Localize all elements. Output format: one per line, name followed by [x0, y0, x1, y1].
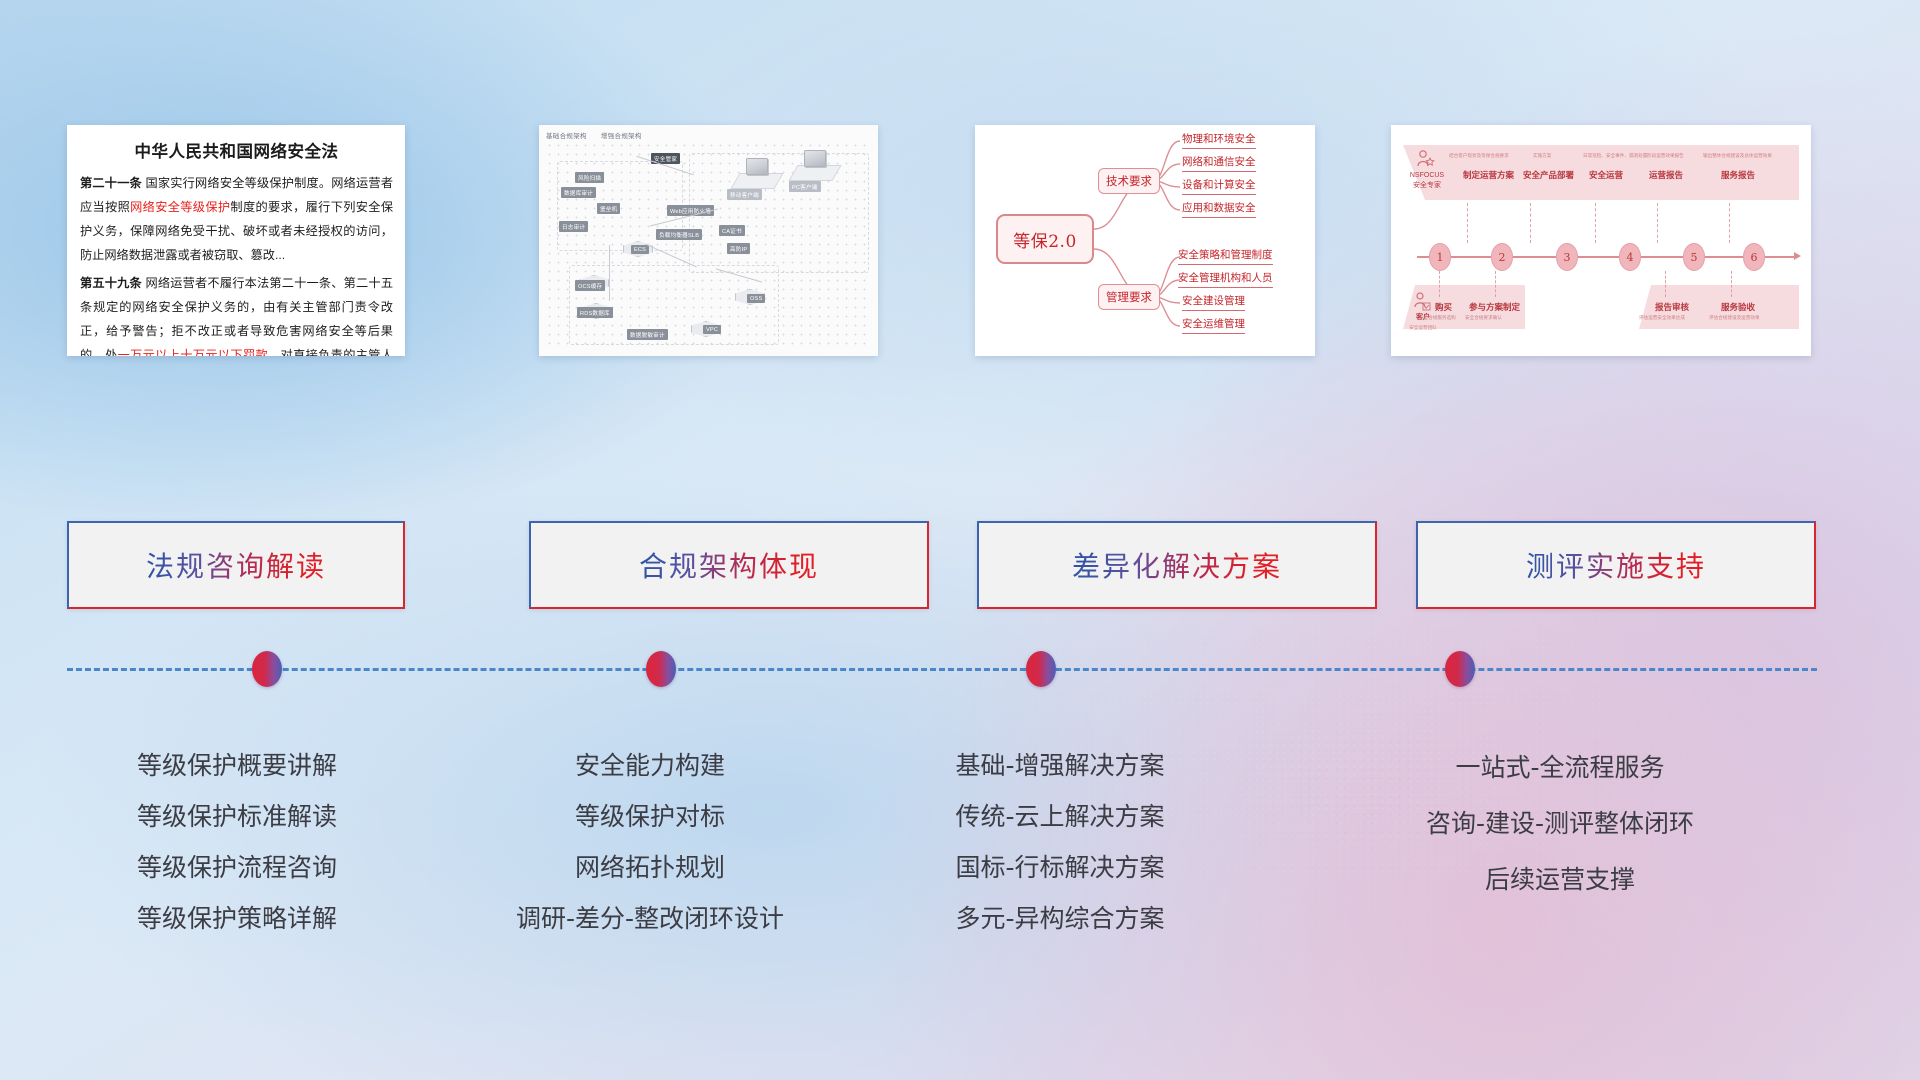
pill-label-1: 法规咨询解读 — [146, 545, 326, 585]
card-cybersecurity-law[interactable]: 中华人民共和国网络安全法 第二十一条 国家实行网络安全等级保护制度。网络运营者应… — [67, 125, 405, 356]
mindmap-branch-management: 管理要求 — [1098, 284, 1160, 310]
architecture-node-risk-scan: 风险扫描 — [575, 172, 604, 183]
feature-item: 一站式-全流程服务 — [1330, 740, 1790, 796]
architecture-node-db-audit: 数据库审计 — [561, 187, 596, 198]
mindmap-leaf-device-compute: 设备和计算安全 — [1182, 179, 1256, 195]
roadmap-axis — [1417, 256, 1797, 258]
mindmap-leaf-construction-mgmt: 安全建设管理 — [1182, 295, 1245, 311]
pill-label-2: 合规架构体现 — [639, 545, 819, 585]
roadmap-tick-b3 — [1665, 271, 1666, 297]
roadmap-tick-b2 — [1495, 271, 1496, 297]
feature-item: 安全能力构建 — [470, 740, 830, 791]
roadmap-bottom-small-1: 安全合规服务选购 — [1419, 315, 1456, 321]
feature-item: 等级保护概要讲解 — [67, 740, 407, 791]
feature-item: 网络拓扑规划 — [470, 842, 830, 893]
card-mindmap-dengbao[interactable]: 等保2.0 技术要求 管理要求 物理和环境安全 网络和通信安全 设备和计算安全 … — [975, 125, 1315, 356]
law-article-59-highlight-a: 一万元以上十万元以下罚款 — [118, 348, 268, 356]
mindmap-leaf-org-personnel: 安全管理机构和人员 — [1178, 272, 1273, 288]
timeline-dashed-line — [67, 668, 1817, 671]
pill-button-compliance-architecture[interactable]: 合规架构体现 — [529, 521, 929, 609]
roadmap-tick-2 — [1530, 203, 1531, 243]
feature-columns: 等级保护概要讲解 等级保护标准解读 等级保护流程咨询 等级保护策略详解 安全能力… — [0, 740, 1920, 940]
roadmap-expert-line2: 安全专家 — [1401, 181, 1453, 190]
roadmap-tick-3 — [1595, 203, 1596, 243]
architecture-link-4 — [609, 245, 610, 301]
architecture-header: 基础合规架构 增强合规架构 — [546, 130, 654, 140]
feature-item: 多元-异构综合方案 — [870, 893, 1250, 944]
roadmap-tick-5 — [1729, 203, 1730, 243]
roadmap-bottom-big-1: 购买 — [1435, 301, 1452, 313]
feature-item: 等级保护策略详解 — [67, 893, 407, 944]
mindmap-leaf-policy-system: 安全策略和管理制度 — [1178, 249, 1273, 265]
roadmap-step-dot-5: 5 — [1683, 243, 1705, 271]
roadmap-top-big-4: 运营报告 — [1649, 169, 1683, 181]
architecture-header-left: 基础合规架构 — [546, 133, 587, 140]
architecture-node-ecs: ECS — [631, 245, 649, 254]
feature-column-2: 安全能力构建 等级保护对标 网络拓扑规划 调研-差分-整改闭环设计 — [470, 740, 830, 944]
roadmap-tick-1 — [1467, 203, 1468, 243]
architecture-node-data-mask-audit: 数据脱敏审计 — [627, 329, 668, 340]
roadmap-expert-line1: NSFOCUS — [1401, 171, 1453, 180]
pill-button-evaluation-support[interactable]: 测评实施支持 — [1416, 521, 1816, 609]
card-compliance-architecture[interactable]: 基础合规架构 增强合规架构 移动客户端 PC客户端 安全管家 风险扫描 数据库审… — [539, 125, 878, 356]
architecture-node-mobile-client: 移动客户端 — [727, 189, 762, 200]
roadmap-tick-4 — [1657, 203, 1658, 243]
architecture-node-oss: OSS — [747, 294, 765, 303]
slide-stage: 中华人民共和国网络安全法 第二十一条 国家实行网络安全等级保护制度。网络运营者应… — [0, 0, 1920, 1080]
roadmap-top-big-1: 制定运营方案 — [1463, 169, 1514, 181]
architecture-header-right: 增强合规架构 — [601, 133, 642, 140]
feature-column-3: 基础-增强解决方案 传统-云上解决方案 国标-行标解决方案 多元-异构综合方案 — [870, 740, 1250, 944]
mindmap-leaf-app-data: 应用和数据安全 — [1182, 202, 1256, 218]
feature-item: 等级保护流程咨询 — [67, 842, 407, 893]
feature-column-1: 等级保护概要讲解 等级保护标准解读 等级保护流程咨询 等级保护策略详解 — [67, 740, 407, 944]
pill-button-regulation-consulting[interactable]: 法规咨询解读 — [67, 521, 405, 609]
roadmap-top-big-5: 服务报告 — [1721, 169, 1755, 181]
mindmap-leaf-physical-env: 物理和环境安全 — [1182, 133, 1256, 149]
mindmap-branch-technical: 技术要求 — [1098, 168, 1160, 194]
roadmap-top-small-5: 输出整体合规建设及总体运营效果 — [1703, 153, 1772, 159]
feature-item: 咨询-建设-测评整体闭环 — [1330, 796, 1790, 852]
law-article-59-label: 第五十九条 — [80, 276, 142, 290]
roadmap-step-dot-6: 6 — [1743, 243, 1765, 271]
architecture-node-bastion: 堡垒机 — [597, 203, 620, 214]
timeline-dot-1[interactable] — [252, 651, 282, 687]
roadmap-bottom-big-2: 参与方案制定 — [1469, 301, 1520, 313]
feature-column-4: 一站式-全流程服务 咨询-建设-测评整体闭环 后续运营支撑 — [1330, 740, 1790, 908]
feature-item: 传统-云上解决方案 — [870, 791, 1250, 842]
architecture-plate-pc — [788, 165, 841, 181]
architecture-node-pc-client: PC客户端 — [789, 181, 821, 192]
law-document: 中华人民共和国网络安全法 第二十一条 国家实行网络安全等级保护制度。网络运营者应… — [67, 125, 405, 356]
architecture-node-ocs: OCS缓存 — [575, 280, 605, 291]
architecture-node-log-audit: 日志审计 — [559, 221, 588, 232]
roadmap-bottom-small-2: 安全合规要求确认 — [1465, 315, 1502, 321]
pill-buttons-row: 法规咨询解读 合规架构体现 差异化解决方案 测评实施支持 — [0, 521, 1920, 611]
pill-label-4: 测评实施支持 — [1526, 545, 1706, 585]
roadmap-top-small-1: 结合客户现状及等保合规要求 — [1449, 153, 1509, 159]
expert-person-icon — [1415, 149, 1435, 169]
roadmap-step-dot-3: 3 — [1556, 243, 1578, 271]
roadmap-top-big-3: 安全运营 — [1589, 169, 1623, 181]
law-title: 中华人民共和国网络安全法 — [80, 138, 393, 162]
roadmap-top-small-2: 实施方案 — [1533, 153, 1551, 159]
architecture-node-high-defense-ip: 高防IP — [727, 243, 750, 254]
architecture-plate-mobile — [730, 173, 783, 189]
feature-item: 等级保护对标 — [470, 791, 830, 842]
architecture-icon-mobile-client — [746, 158, 768, 175]
architecture-icon-pc-client — [804, 150, 826, 167]
pill-button-differentiated-solution[interactable]: 差异化解决方案 — [977, 521, 1377, 609]
roadmap-tick-b1 — [1439, 271, 1440, 297]
architecture-node-ca-cert: CA证书 — [719, 225, 745, 236]
customer-person-icon — [1413, 291, 1431, 311]
feature-item: 等级保护标准解读 — [67, 791, 407, 842]
roadmap-top-big-2: 安全产品部署 — [1523, 169, 1574, 181]
roadmap-tick-b4 — [1731, 271, 1732, 297]
roadmap-bottom-big-3: 报告审核 — [1655, 301, 1689, 313]
roadmap-bottom-big-4: 服务验收 — [1721, 301, 1755, 313]
roadmap-top-small-3: 日常巡检、安全事件、漏洞处置 — [1583, 153, 1647, 159]
architecture-node-slb: 负载均衡器SLB — [656, 229, 702, 240]
feature-item: 国标-行标解决方案 — [870, 842, 1250, 893]
law-article-21-highlight: 网络安全等级保护 — [130, 200, 230, 214]
mindmap-leaf-ops-mgmt: 安全运维管理 — [1182, 318, 1245, 334]
timeline — [0, 640, 1920, 700]
architecture-zone-mid — [689, 153, 869, 273]
roadmap-step-dot-1: 1 — [1429, 243, 1451, 271]
feature-item: 后续运营支撑 — [1330, 852, 1790, 908]
law-article-59: 第五十九条 网络运营者不履行本法第二十一条、第二十五条规定的网络安全保护义务的，… — [80, 271, 393, 356]
roadmap-axis-arrow — [1794, 252, 1801, 260]
roadmap: NSFOCUS 安全专家 客户 安全运营团队 结合客户现状及等保合规要求 制定运… — [1391, 125, 1811, 356]
mindmap-root: 等保2.0 — [996, 214, 1094, 264]
mindmap-leaf-network-comm: 网络和通信安全 — [1182, 156, 1256, 172]
architecture-node-rds: RDS数据库 — [577, 307, 613, 318]
architecture-diagram: 基础合规架构 增强合规架构 移动客户端 PC客户端 安全管家 风险扫描 数据库审… — [539, 125, 878, 356]
cards-row: 中华人民共和国网络安全法 第二十一条 国家实行网络安全等级保护制度。网络运营者应… — [0, 125, 1920, 360]
pill-label-3: 差异化解决方案 — [1072, 545, 1282, 585]
timeline-dot-2[interactable] — [646, 651, 676, 687]
law-article-21: 第二十一条 国家实行网络安全等级保护制度。网络运营者应当按照网络安全等级保护制度… — [80, 171, 393, 267]
roadmap-customer-line2: 安全运营团队 — [1393, 323, 1453, 332]
law-article-21-label: 第二十一条 — [80, 176, 142, 190]
timeline-dot-4[interactable] — [1445, 651, 1475, 687]
roadmap-step-dot-4: 4 — [1619, 243, 1641, 271]
roadmap-bottom-small-3: 评估运营安全效果达成 — [1639, 315, 1685, 321]
card-nsfocus-roadmap[interactable]: NSFOCUS 安全专家 客户 安全运营团队 结合客户现状及等保合规要求 制定运… — [1391, 125, 1811, 356]
roadmap-step-dot-2: 2 — [1491, 243, 1513, 271]
mindmap: 等保2.0 技术要求 管理要求 物理和环境安全 网络和通信安全 设备和计算安全 … — [975, 125, 1315, 356]
timeline-dot-3[interactable] — [1026, 651, 1056, 687]
feature-item: 基础-增强解决方案 — [870, 740, 1250, 791]
architecture-node-vpc: VPC — [703, 325, 721, 334]
feature-item: 调研-差分-整改闭环设计 — [470, 893, 830, 944]
roadmap-bottom-small-4: 评估合规建设及运营效果 — [1709, 315, 1760, 321]
roadmap-top-small-4: 阶段运营效果报告 — [1647, 153, 1684, 159]
